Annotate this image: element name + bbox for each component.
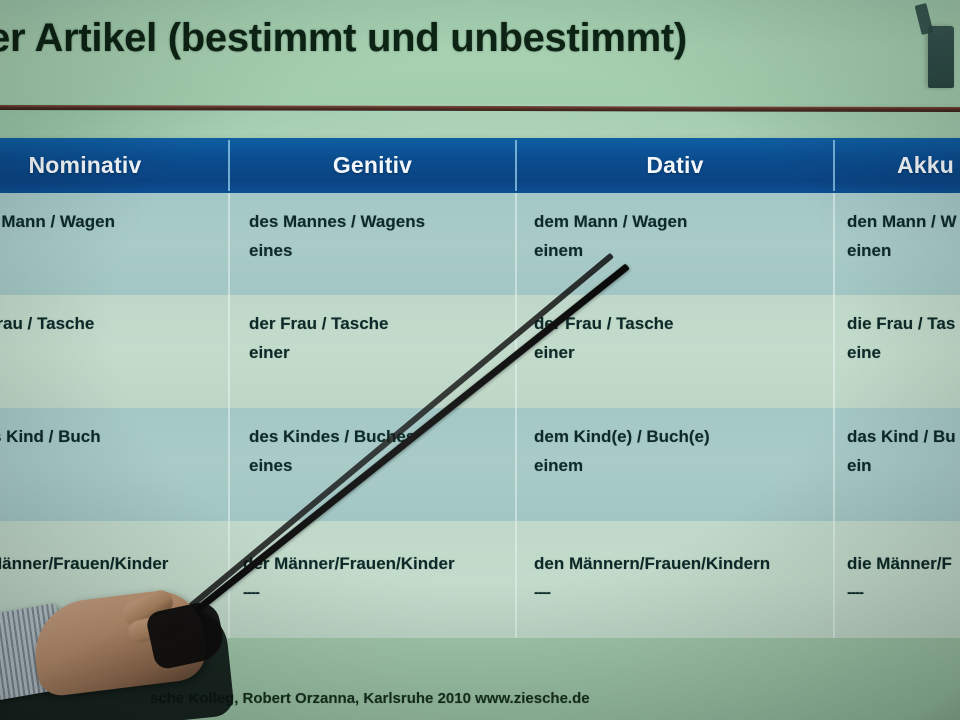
cell-line-indef: ein (847, 451, 960, 480)
slide-title-band: er Artikel (bestimmt und unbestimmt) (0, 0, 960, 104)
cell-line-main: s Kind / Buch (0, 422, 228, 451)
cell-nominativ: Frau / Tasche e (0, 295, 228, 408)
column-header-genitiv: Genitiv (230, 138, 515, 193)
declension-table: Nominativ Genitiv Dativ Akku r Mann / Wa… (0, 138, 960, 638)
cell-line-main: dem Mann / Wagen (534, 207, 833, 236)
cell-line-main: den Mann / W (847, 207, 960, 236)
cell-line-indef: eines (249, 236, 515, 265)
cell-line-main: dem Kind(e) / Buch(e) (534, 422, 833, 451)
cell-line-indef: einer (534, 338, 833, 367)
cell-line-main: der Männer/Frauen/Kinder (243, 549, 515, 578)
cell-line-main: das Kind / Bu (847, 422, 960, 451)
cell-akkusativ: das Kind / Bu ein (835, 408, 960, 521)
cell-line-main: den Männern/Frauen/Kindern (534, 549, 833, 578)
cell-dativ: dem Kind(e) / Buch(e) einem (517, 408, 833, 521)
cell-line-main: Frau / Tasche (0, 309, 228, 338)
cell-line-indef: ---- (243, 578, 515, 607)
cell-akkusativ: die Männer/F ---- (835, 521, 960, 638)
table-row: r Mann / Wagen des Mannes / Wagens eines… (0, 193, 960, 295)
cell-line-indef: einer (249, 338, 515, 367)
column-header-nominativ: Nominativ (0, 138, 230, 193)
cell-line-main: des Mannes / Wagens (249, 207, 515, 236)
cell-line-main: die Frau / Tas (847, 309, 960, 338)
projected-slide-photo: er Artikel (bestimmt und unbestimmt) Nom… (0, 0, 960, 720)
cell-line-main: der Frau / Tasche (534, 309, 833, 338)
table-header-row: Nominativ Genitiv Dativ Akku (0, 138, 960, 193)
corner-device-icon (928, 26, 954, 88)
cell-akkusativ: den Mann / W einen (835, 193, 960, 295)
slide-title: er Artikel (bestimmt und unbestimmt) (0, 16, 868, 61)
cell-genitiv: der Männer/Frauen/Kinder ---- (230, 521, 515, 638)
cell-line-indef: eine (847, 338, 960, 367)
cell-dativ: der Frau / Tasche einer (517, 295, 833, 408)
cell-genitiv: des Kindes / Buches eines (230, 408, 515, 521)
cell-line-indef: einem (534, 451, 833, 480)
cell-dativ: dem Mann / Wagen einem (517, 193, 833, 295)
cell-line-main: Männer/Frauen/Kinder (0, 549, 228, 578)
table-row: s Kind / Buch des Kindes / Buches eines … (0, 408, 960, 521)
cell-line-indef: einem (534, 236, 833, 265)
cell-line-indef: e (0, 338, 228, 367)
cell-dativ: den Männern/Frauen/Kindern ---- (517, 521, 833, 638)
cell-line-main: die Männer/F (847, 549, 960, 578)
cell-line-indef: ---- (534, 578, 833, 607)
cell-line-main: r Mann / Wagen (0, 207, 228, 236)
column-header-dativ: Dativ (517, 138, 833, 193)
cell-line-indef: eines (249, 451, 515, 480)
cell-line-main: der Frau / Tasche (249, 309, 515, 338)
cell-genitiv: der Frau / Tasche einer (230, 295, 515, 408)
cell-genitiv: des Mannes / Wagens eines (230, 193, 515, 295)
cell-line-indef: einen (847, 236, 960, 265)
table-row: Frau / Tasche e der Frau / Tasche einer … (0, 295, 960, 408)
column-header-akkusativ: Akku (835, 138, 960, 193)
cell-nominativ: r Mann / Wagen (0, 193, 228, 295)
cell-nominativ: s Kind / Buch (0, 408, 228, 521)
cell-line-main: des Kindes / Buches (249, 422, 515, 451)
cell-akkusativ: die Frau / Tas eine (835, 295, 960, 408)
cell-line-indef: ---- (847, 578, 960, 607)
